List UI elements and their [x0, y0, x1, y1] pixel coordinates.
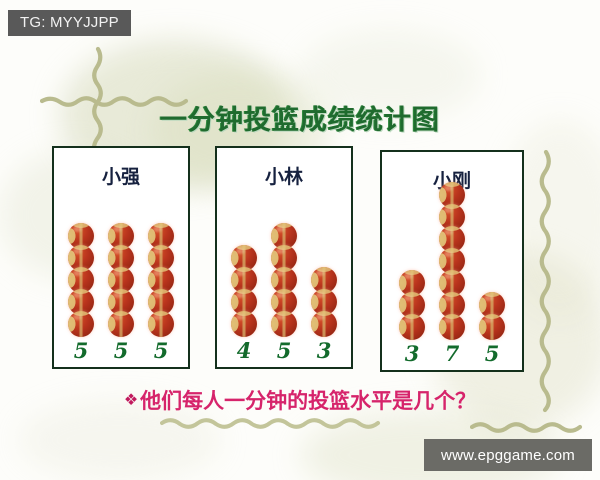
basketball-icon [108, 311, 134, 337]
column-count-labels: 5 5 5 [54, 337, 188, 363]
tg-tag-overlay: TG: MYYJJPP [8, 10, 131, 36]
pictograph-column [392, 274, 432, 340]
student-chart-box-1: 小林 4 5 3 [215, 146, 353, 369]
question-text: ❖他们每人一分钟的投篮水平是几个？ [0, 385, 600, 415]
question-label: 他们每人一分钟的投篮水平是几个？ [140, 389, 476, 413]
column-count-label: 7 [432, 341, 472, 366]
pictograph-columns [54, 172, 188, 337]
pictograph-column [304, 271, 344, 337]
basketball-icon [311, 311, 337, 337]
column-count-label: 5 [264, 338, 304, 363]
pictograph-column [141, 227, 181, 337]
column-count-labels: 3 7 5 [382, 340, 522, 366]
bullet-icon: ❖ [124, 390, 138, 409]
pictograph-column [432, 186, 472, 340]
basketball-icon [271, 311, 297, 337]
page-title: 一分钟投篮成绩统计图 [0, 98, 600, 137]
column-count-label: 5 [141, 338, 181, 363]
column-count-label: 5 [101, 338, 141, 363]
basketball-icon [148, 311, 174, 337]
vine-decoration-bottom-right [470, 415, 590, 439]
pictograph-column [264, 227, 304, 337]
student-chart-box-0: 小强 [52, 146, 190, 369]
basketball-icon [68, 311, 94, 337]
column-count-label: 3 [392, 341, 432, 366]
pictograph-column [101, 227, 141, 337]
column-count-label: 3 [304, 338, 344, 363]
student-chart-box-2: 小刚 3 7 5 [380, 150, 524, 372]
column-count-label: 4 [224, 338, 264, 363]
pictograph-columns [382, 175, 522, 340]
column-count-labels: 4 5 3 [217, 337, 351, 363]
pictograph-columns [217, 172, 351, 337]
pictograph-column [472, 296, 512, 340]
basketball-icon [399, 314, 425, 340]
basketball-icon [439, 314, 465, 340]
watermark-overlay: www.epggame.com [424, 439, 592, 471]
basketball-icon [479, 314, 505, 340]
slide-canvas: 一分钟投篮成绩统计图 小强 [0, 0, 600, 480]
basketball-icon [231, 311, 257, 337]
pictograph-column [61, 227, 101, 337]
vine-decoration-bottom-left [160, 412, 390, 434]
column-count-label: 5 [61, 338, 101, 363]
pictograph-column [224, 249, 264, 337]
column-count-label: 5 [472, 341, 512, 366]
